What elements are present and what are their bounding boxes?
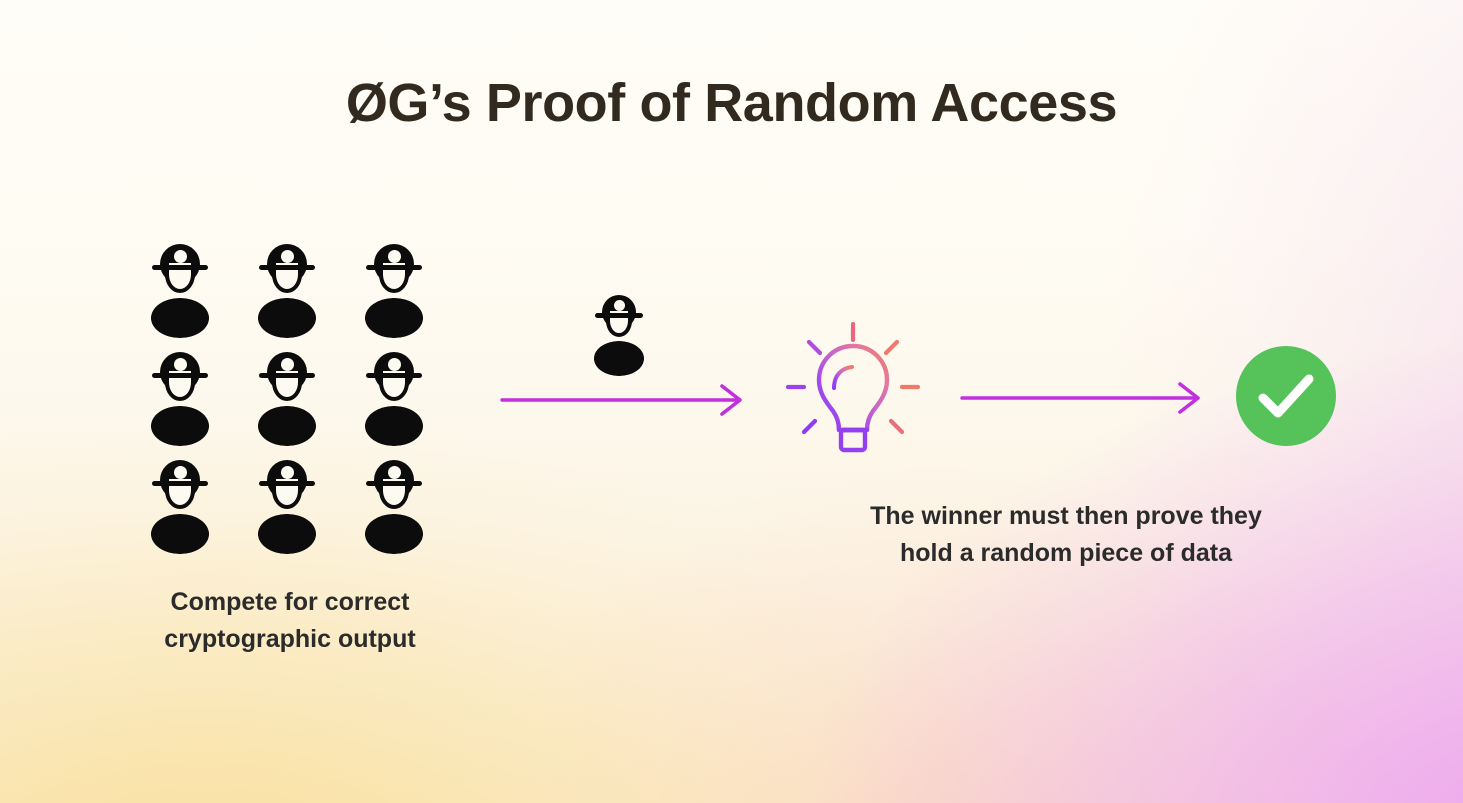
bulb-highlight	[834, 367, 852, 388]
lightbulb-icon	[778, 318, 928, 468]
person-brim	[366, 265, 422, 271]
person-brim	[152, 265, 208, 271]
person-icon	[151, 244, 209, 340]
person-body	[151, 406, 209, 446]
person-brim	[366, 481, 422, 487]
person-icon	[151, 352, 209, 448]
person-brim	[259, 265, 315, 271]
slide-canvas: ØG’s Proof of Random Access	[0, 0, 1463, 803]
person-body	[365, 298, 423, 338]
person-body	[151, 514, 209, 554]
person-brim	[259, 481, 315, 487]
person-icon	[365, 244, 423, 340]
person-brim	[152, 373, 208, 379]
check-mark-icon	[1236, 346, 1336, 446]
page-title: ØG’s Proof of Random Access	[0, 72, 1463, 134]
person-body	[151, 298, 209, 338]
person-dot	[388, 358, 401, 371]
person-brim	[152, 481, 208, 487]
winner-person-icon	[594, 295, 644, 378]
arrow-right-icon	[498, 380, 750, 420]
person-dot	[174, 358, 187, 371]
person-icon	[365, 352, 423, 448]
person-icon	[365, 460, 423, 556]
bulb-base	[841, 430, 865, 450]
bulb-glass	[819, 346, 887, 430]
person-dot	[388, 466, 401, 479]
person-body	[365, 406, 423, 446]
person-brim	[366, 373, 422, 379]
person-icon	[258, 352, 316, 448]
arrow-right-icon	[958, 378, 1208, 418]
person-brim	[259, 373, 315, 379]
person-dot	[281, 466, 294, 479]
person-dot	[281, 250, 294, 263]
person-body	[594, 341, 644, 376]
person-brim	[595, 313, 643, 318]
person-icon	[258, 244, 316, 340]
person-dot	[614, 300, 625, 311]
person-body	[258, 298, 316, 338]
bulb-rays	[788, 324, 918, 432]
winner-proof-caption: The winner must then prove they hold a r…	[824, 498, 1308, 572]
person-body	[258, 406, 316, 446]
person-icon	[258, 460, 316, 556]
person-dot	[174, 466, 187, 479]
miner-grid-caption: Compete for correct cryptographic output	[104, 584, 476, 658]
person-dot	[388, 250, 401, 263]
person-icon	[151, 460, 209, 556]
person-dot	[281, 358, 294, 371]
person-body	[258, 514, 316, 554]
person-dot	[174, 250, 187, 263]
person-body	[365, 514, 423, 554]
check-circle-icon	[1236, 346, 1336, 446]
